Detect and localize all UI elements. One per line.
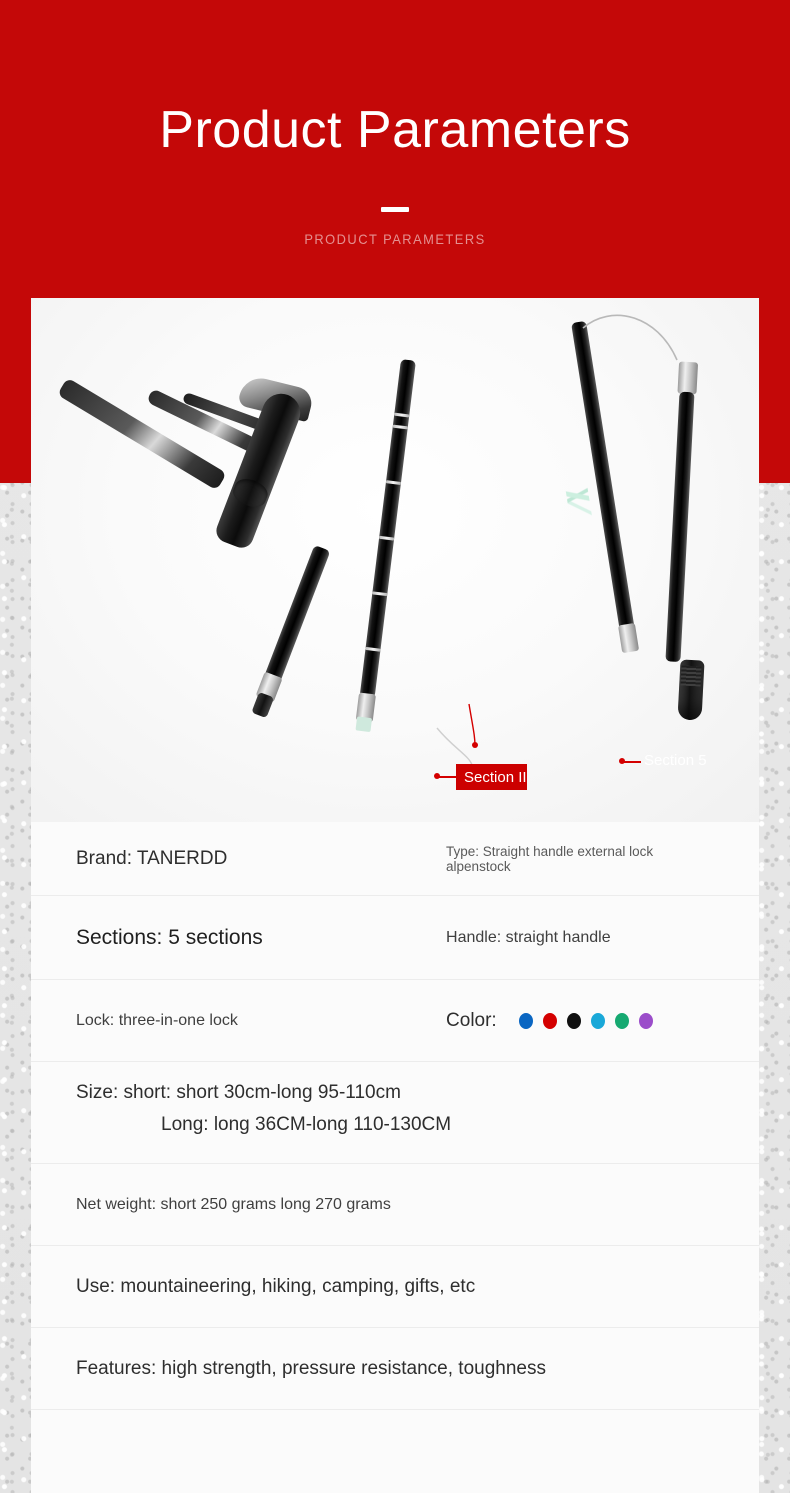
- wrist-strap-loop: [57, 378, 227, 491]
- spec-size-line-2: Long: long 36CM-long 110-130CM: [76, 1114, 451, 1136]
- spec-row-size: Size: short: short 30cm-long 95-110cm Lo…: [31, 1062, 759, 1164]
- spec-row-brand: Brand: TANERDD Type: Straight handle ext…: [31, 822, 759, 896]
- spec-features-value: Features: high strength, pressure resist…: [76, 1358, 546, 1380]
- page-title: Product Parameters: [0, 104, 790, 156]
- pole-section-2: [354, 359, 416, 748]
- content-card: Section I Section II Section III Section…: [31, 298, 759, 1493]
- spec-row-tail-spacer: [31, 1410, 759, 1488]
- page-subtitle: PRODUCT PARAMETERS: [32, 231, 759, 247]
- pole-section-1: [255, 545, 330, 705]
- spec-row-use: Use: mountaineering, hiking, camping, gi…: [31, 1246, 759, 1328]
- spec-lock-value: Lock: three-in-one lock: [76, 1012, 446, 1030]
- spec-color-label: Color:: [446, 1010, 497, 1032]
- spec-handle-value: Handle: straight handle: [446, 929, 714, 947]
- color-swatch-red[interactable]: [543, 1013, 557, 1029]
- specifications-table: Brand: TANERDD Type: Straight handle ext…: [31, 822, 759, 1488]
- spec-size-block: Size: short: short 30cm-long 95-110cm Lo…: [76, 1082, 451, 1136]
- elastic-cord: [31, 298, 759, 822]
- annotation-section-2: Section II: [457, 766, 534, 789]
- spec-row-lock: Lock: three-in-one lock Color:: [31, 980, 759, 1062]
- color-swatch-list: [519, 1013, 653, 1029]
- color-swatch-purple[interactable]: [639, 1013, 653, 1029]
- spec-row-features: Features: high strength, pressure resist…: [31, 1328, 759, 1410]
- product-photo: Section I Section II Section III Section…: [31, 298, 759, 822]
- color-swatch-black[interactable]: [567, 1013, 581, 1029]
- spec-size-line-1: Size: short: short 30cm-long 95-110cm: [76, 1082, 451, 1104]
- spec-brand-value: Brand: TANERDD: [76, 848, 446, 870]
- color-swatch-blue[interactable]: [519, 1013, 533, 1029]
- spec-type-value: Type: Straight handle external lock alpe…: [446, 844, 714, 874]
- annotation-dot-5: [619, 758, 625, 764]
- spec-row-sections: Sections: 5 sections Handle: straight ha…: [31, 896, 759, 980]
- annotation-line-5: [623, 761, 641, 763]
- pole-section-5: [663, 364, 696, 709]
- product-parameters-page: Product Parameters PRODUCT PARAMETERS: [0, 0, 790, 1493]
- color-swatch-cyan[interactable]: [591, 1013, 605, 1029]
- spec-use-value: Use: mountaineering, hiking, camping, gi…: [76, 1276, 475, 1298]
- title-divider: [381, 207, 409, 212]
- spec-weight-value: Net weight: short 250 grams long 270 gra…: [76, 1196, 391, 1214]
- pole-tip-ridges: [680, 665, 701, 686]
- annotation-section-5: Section 5: [644, 752, 707, 769]
- spec-sections-value: Sections: 5 sections: [76, 926, 446, 950]
- annotation-dot-2: [434, 773, 440, 779]
- annotation-dot-3: [472, 742, 478, 748]
- spec-row-weight: Net weight: short 250 grams long 270 gra…: [31, 1164, 759, 1246]
- color-swatch-green[interactable]: [615, 1013, 629, 1029]
- annotation-line-3: [31, 298, 759, 822]
